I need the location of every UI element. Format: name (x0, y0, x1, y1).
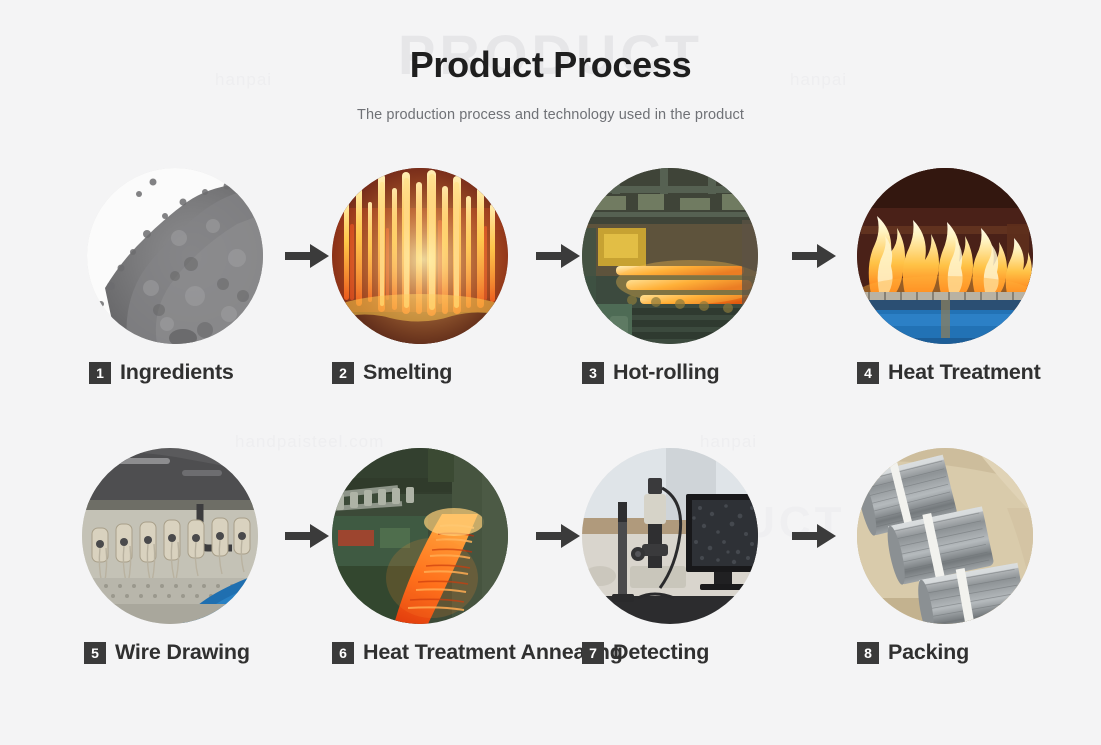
process-row: 1 Ingredients (0, 168, 1101, 448)
step-number-badge: 4 (857, 362, 879, 384)
step-number-badge: 8 (857, 642, 879, 664)
process-step-heat-treatment[interactable]: 4 Heat Treatment (857, 168, 1033, 385)
arrow-right-icon (283, 241, 331, 271)
rolling-mill-photo (582, 168, 758, 344)
step-label: Packing (888, 640, 969, 665)
step-caption: 6 Heat Treatment Annealing (332, 640, 508, 665)
microscope-inspection-photo (582, 448, 758, 624)
process-step-smelting[interactable]: 2 Smelting (332, 168, 508, 385)
process-step-ingredients[interactable]: 1 Ingredients (87, 168, 263, 385)
arrow-right-icon (283, 521, 331, 551)
step-number-badge: 2 (332, 362, 354, 384)
page-header: Product Process The production process a… (0, 0, 1101, 123)
step-label: Hot-rolling (613, 360, 719, 385)
process-step-wire-drawing[interactable]: 5 Wire Drawing (82, 448, 258, 665)
step-number-badge: 3 (582, 362, 604, 384)
step-number-badge: 6 (332, 642, 354, 664)
page-title: Product Process (0, 0, 1101, 86)
step-number-badge: 7 (582, 642, 604, 664)
wire-spools-box-photo (857, 448, 1033, 624)
furnace-flames-photo (857, 168, 1033, 344)
process-step-detecting[interactable]: 7 Detecting (582, 448, 758, 665)
step-label: Wire Drawing (115, 640, 250, 665)
wire-drawing-machine-photo (82, 448, 258, 624)
process-step-annealing[interactable]: 6 Heat Treatment Annealing (332, 448, 508, 665)
arrow-right-icon (534, 521, 582, 551)
step-label: Heat Treatment (888, 360, 1041, 385)
arrow-right-icon (790, 521, 838, 551)
step-caption: 3 Hot-rolling (582, 360, 758, 385)
step-label: Ingredients (120, 360, 234, 385)
step-caption: 5 Wire Drawing (82, 640, 258, 665)
step-label: Detecting (613, 640, 709, 665)
step-label: Smelting (363, 360, 452, 385)
step-caption: 4 Heat Treatment (857, 360, 1033, 385)
step-caption: 1 Ingredients (87, 360, 263, 385)
step-caption: 8 Packing (857, 640, 1033, 665)
process-flow: 1 Ingredients (0, 168, 1101, 728)
annealing-line-photo (332, 448, 508, 624)
metal-powder-photo (87, 168, 263, 344)
process-step-hot-rolling[interactable]: 3 Hot-rolling (582, 168, 758, 385)
step-caption: 2 Smelting (332, 360, 508, 385)
arrow-right-icon (534, 241, 582, 271)
step-number-badge: 1 (89, 362, 111, 384)
arrow-right-icon (790, 241, 838, 271)
process-step-packing[interactable]: 8 Packing (857, 448, 1033, 665)
page-subtitle: The production process and technology us… (0, 86, 1101, 123)
molten-metal-photo (332, 168, 508, 344)
step-number-badge: 5 (84, 642, 106, 664)
process-row: 5 Wire Drawing (0, 448, 1101, 728)
step-caption: 7 Detecting (582, 640, 758, 665)
